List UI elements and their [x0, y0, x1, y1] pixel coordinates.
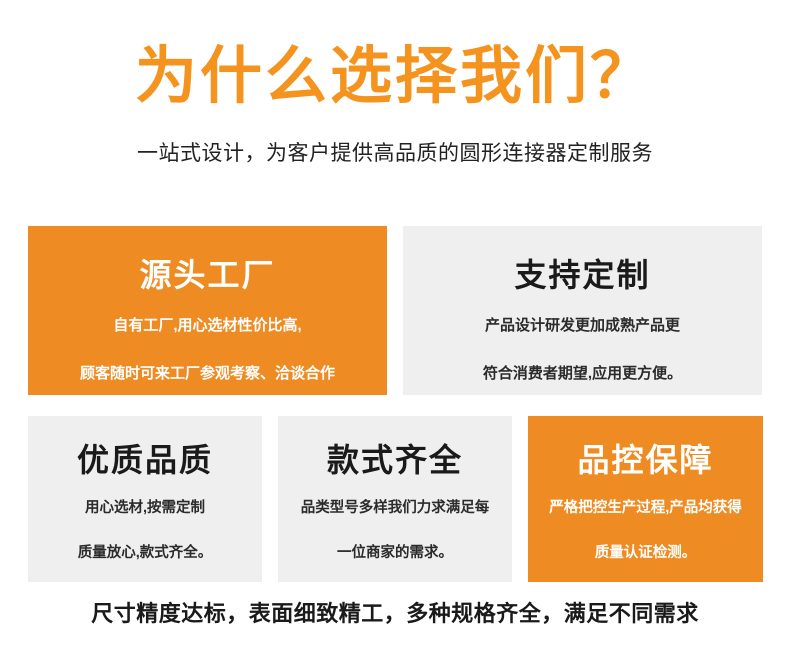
feature-card-desc-line-1: 自有工厂,用心选材性价比高, — [113, 291, 301, 339]
feature-card-source-factory: 源头工厂 自有工厂,用心选材性价比高, 顾客随时可来工厂参观考察、洽谈合作 — [28, 226, 387, 395]
footer-tagline: 尺寸精度达标，表面细致精工，多种规格齐全，满足不同需求 — [0, 596, 790, 628]
feature-card-desc-line-2: 质量认证检测。 — [595, 521, 697, 566]
feature-card-title: 优质品质 — [77, 416, 213, 476]
feature-card-title: 支持定制 — [514, 226, 650, 291]
feature-card-desc-line-2: 顾客随时可来工厂参观考察、洽谈合作 — [80, 339, 335, 387]
feature-card-desc-line-1: 严格把控生产过程,产品均获得 — [549, 476, 742, 521]
feature-row-2: 优质品质 用心选材,按需定制 质量放心,款式齐全。 款式齐全 品类型号多样我们力… — [28, 416, 763, 582]
feature-card-custom-support: 支持定制 产品设计研发更加成熟产品更 符合消费者期望,应用更方便。 — [403, 226, 762, 395]
feature-card-desc-line-2: 质量放心,款式齐全。 — [78, 521, 213, 566]
feature-card-grid: 源头工厂 自有工厂,用心选材性价比高, 顾客随时可来工厂参观考察、洽谈合作 支持… — [28, 226, 763, 582]
feature-card-desc-line-1: 品类型号多样我们力求满足每 — [301, 476, 490, 521]
page-title: 为什么选择我们？ — [0, 44, 790, 109]
page-footer: 尺寸精度达标，表面细致精工，多种规格齐全，满足不同需求 — [0, 596, 790, 628]
page-subtitle: 一站式设计，为客户提供高品质的圆形连接器定制服务 — [0, 109, 790, 167]
feature-card-quality-control: 品控保障 严格把控生产过程,产品均获得 质量认证检测。 — [528, 416, 763, 582]
feature-card-desc-line-1: 用心选材,按需定制 — [85, 476, 205, 521]
feature-card-desc-line-2: 一位商家的需求。 — [337, 521, 453, 566]
feature-card-title: 源头工厂 — [139, 226, 275, 291]
feature-card-desc-line-1: 产品设计研发更加成熟产品更 — [485, 291, 680, 339]
page-header: 为什么选择我们？ 一站式设计，为客户提供高品质的圆形连接器定制服务 — [0, 0, 790, 167]
feature-card-title: 款式齐全 — [327, 416, 463, 476]
feature-card-variety: 款式齐全 品类型号多样我们力求满足每 一位商家的需求。 — [278, 416, 512, 582]
feature-row-1: 源头工厂 自有工厂,用心选材性价比高, 顾客随时可来工厂参观考察、洽谈合作 支持… — [28, 226, 763, 395]
feature-card-desc-line-2: 符合消费者期望,应用更方便。 — [483, 339, 682, 387]
feature-card-title: 品控保障 — [577, 416, 713, 476]
promo-page: 为什么选择我们？ 一站式设计，为客户提供高品质的圆形连接器定制服务 源头工厂 自… — [0, 0, 790, 646]
feature-card-quality: 优质品质 用心选材,按需定制 质量放心,款式齐全。 — [28, 416, 262, 582]
